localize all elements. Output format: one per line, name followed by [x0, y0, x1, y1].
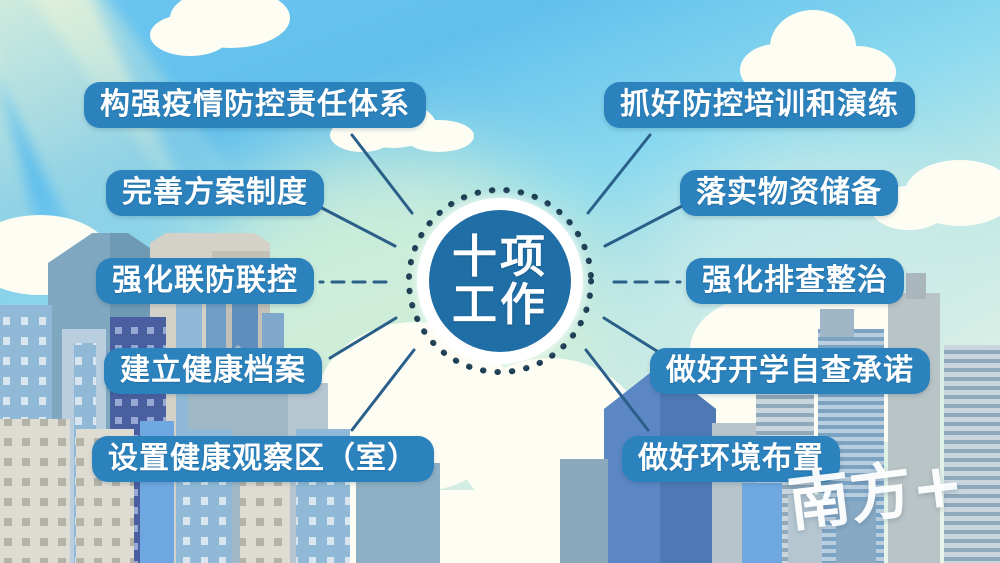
- label-text: 设置健康观察区（室）: [108, 444, 418, 474]
- center-title-line1: 十项: [452, 233, 548, 281]
- label-text: 完善方案制度: [122, 178, 308, 208]
- infographic-canvas: 十项 工作 构强疫情防控责任体系 完善方案制度 强化联防联控 建立健康档案 设置…: [0, 0, 1000, 563]
- label-pill-right-3[interactable]: 强化排查整治: [686, 258, 904, 304]
- label-pill-left-1[interactable]: 构强疫情防控责任体系: [84, 82, 426, 128]
- label-pill-left-2[interactable]: 完善方案制度: [106, 170, 324, 216]
- center-hub: 十项 工作: [402, 183, 598, 379]
- label-text: 做好开学自查承诺: [666, 356, 914, 386]
- label-pill-right-2[interactable]: 落实物资储备: [680, 170, 898, 216]
- label-pill-left-5[interactable]: 设置健康观察区（室）: [92, 436, 434, 482]
- label-pill-right-4[interactable]: 做好开学自查承诺: [650, 348, 930, 394]
- label-text: 强化排查整治: [702, 266, 888, 296]
- label-pill-right-1[interactable]: 抓好防控培训和演练: [604, 82, 915, 128]
- label-text: 抓好防控培训和演练: [620, 90, 899, 120]
- label-text: 落实物资储备: [696, 178, 882, 208]
- label-text: 构强疫情防控责任体系: [100, 90, 410, 120]
- center-circle: 十项 工作: [429, 210, 571, 352]
- center-title-line2: 工作: [452, 281, 548, 329]
- label-pill-left-4[interactable]: 建立健康档案: [104, 348, 322, 394]
- label-pill-left-3[interactable]: 强化联防联控: [96, 258, 314, 304]
- label-text: 强化联防联控: [112, 266, 298, 296]
- label-text: 建立健康档案: [120, 356, 306, 386]
